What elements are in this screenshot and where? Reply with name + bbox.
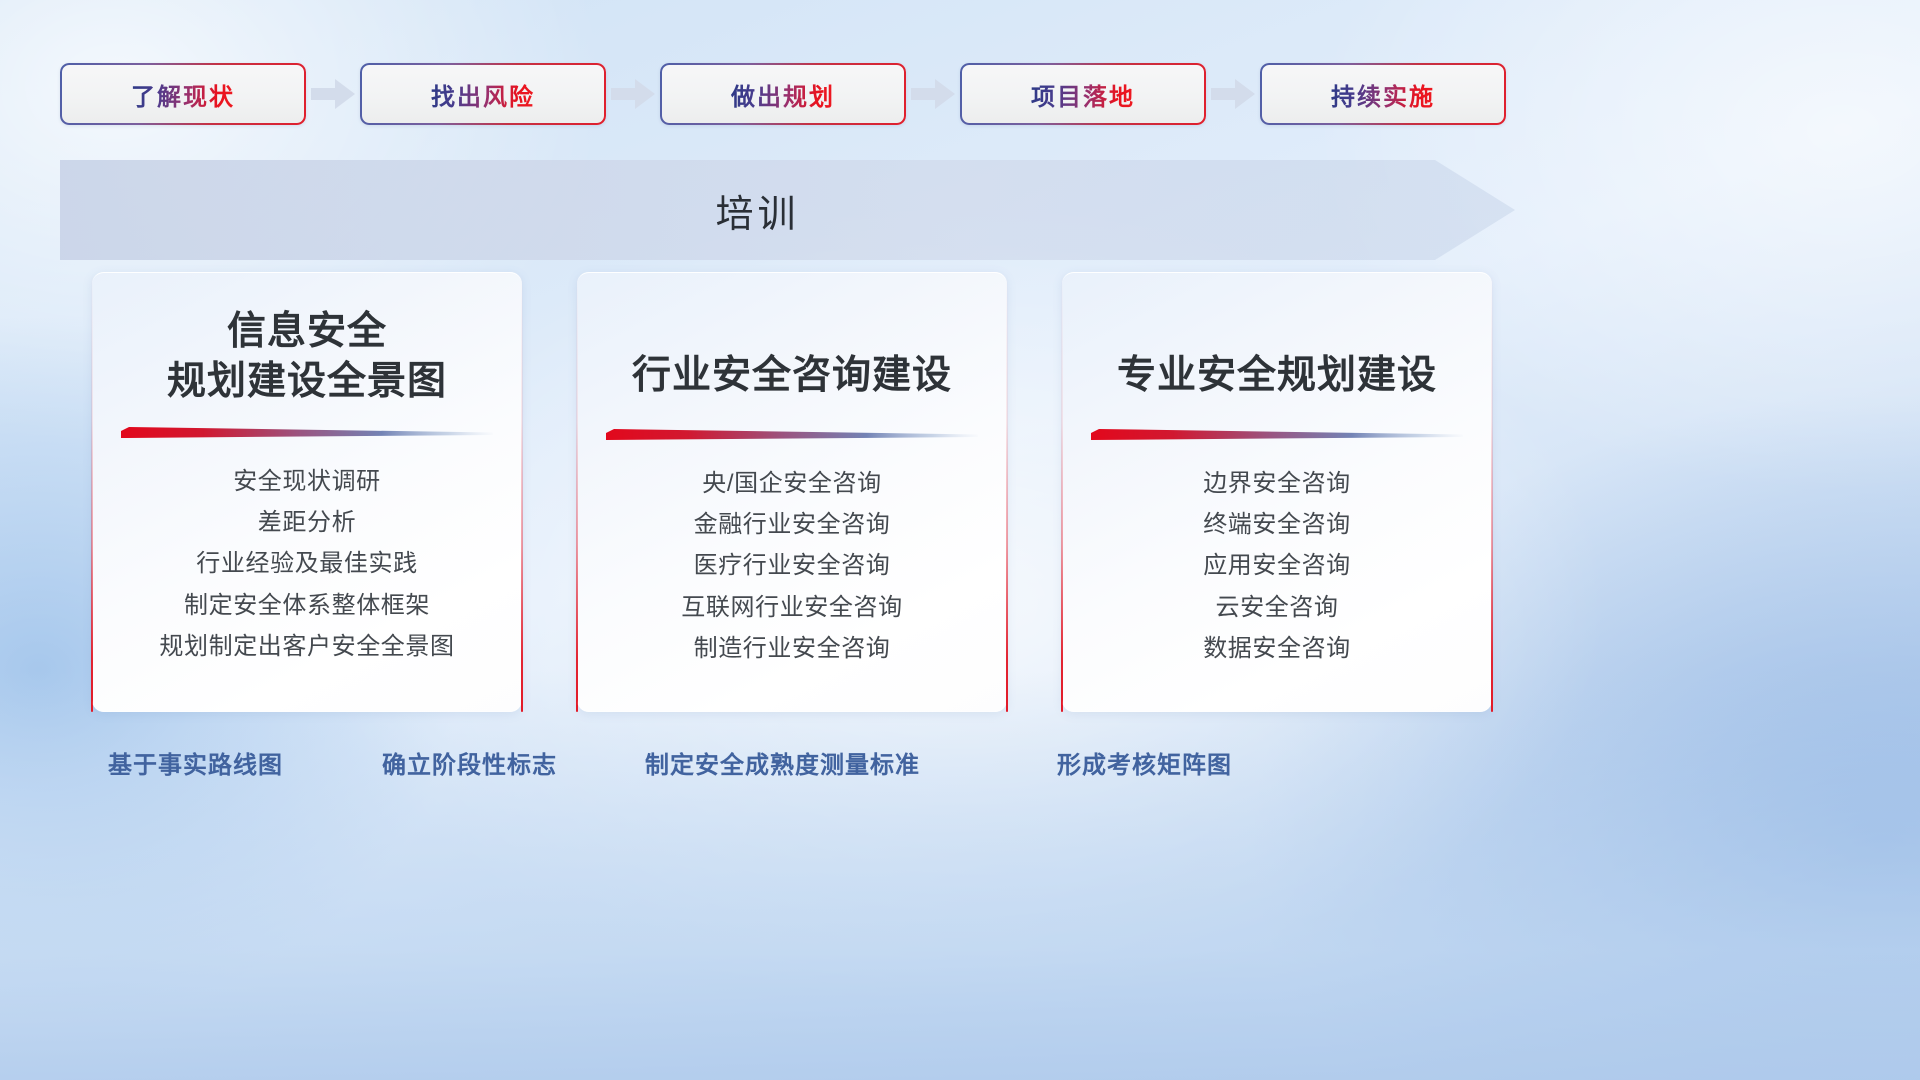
step-arrow-icon-4: [1206, 77, 1260, 111]
footer-label-4: 形成考核矩阵图: [1057, 745, 1232, 780]
card-1-title: 信息安全 规划建设全景图: [167, 307, 447, 407]
card-3-inner: 专业安全规划建设: [1062, 272, 1492, 712]
step-arrow-icon-2: [606, 77, 660, 111]
step-item-4[interactable]: 项目落地: [960, 63, 1206, 125]
list-item: 规划制定出客户安全全景图: [159, 626, 454, 667]
step-arrow-icon-3: [906, 77, 960, 111]
list-item: 互联网行业安全咨询: [681, 587, 902, 628]
step-label-3: 做出规划: [731, 77, 835, 112]
step-label-4: 项目落地: [1031, 77, 1135, 112]
step-label-5: 持续实施: [1331, 77, 1435, 112]
card-row: 信息安全 规划建设全景图: [92, 272, 1492, 712]
banner-label: 培训: [60, 160, 1515, 260]
list-item: 边界安全咨询: [1203, 463, 1351, 504]
list-item: 医疗行业安全咨询: [694, 545, 891, 586]
list-item: 央/国企安全咨询: [702, 463, 881, 504]
list-item: 安全现状调研: [233, 461, 381, 502]
list-item: 终端安全咨询: [1203, 504, 1351, 545]
card-2-inner: 行业安全咨询建设: [577, 272, 1007, 712]
card-1[interactable]: 信息安全 规划建设全景图: [92, 272, 522, 712]
card-3[interactable]: 专业安全规划建设: [1062, 272, 1492, 712]
card-2-divider: [606, 429, 978, 445]
list-item: 云安全咨询: [1216, 587, 1339, 628]
step-label-1: 了解现状: [131, 77, 235, 112]
card-2-title: 行业安全咨询建设: [632, 307, 952, 401]
step-arrow-icon-1: [306, 77, 360, 111]
list-item: 行业经验及最佳实践: [196, 543, 417, 584]
card-3-title-line1: 专业安全规划建设: [1117, 351, 1437, 401]
card-1-title-line2: 规划建设全景图: [167, 357, 447, 407]
card-3-list: 边界安全咨询 终端安全咨询 应用安全咨询 云安全咨询 数据安全咨询: [1062, 463, 1492, 669]
card-2[interactable]: 行业安全咨询建设: [577, 272, 1007, 712]
card-2-list: 央/国企安全咨询 金融行业安全咨询 医疗行业安全咨询 互联网行业安全咨询 制造行…: [577, 463, 1007, 669]
card-1-inner: 信息安全 规划建设全景图: [92, 272, 522, 712]
card-1-list: 安全现状调研 差距分析 行业经验及最佳实践 制定安全体系整体框架 规划制定出客户…: [92, 461, 522, 667]
list-item: 金融行业安全咨询: [694, 504, 891, 545]
footer-label-2: 确立阶段性标志: [382, 745, 557, 780]
step-label-2: 找出风险: [431, 77, 535, 112]
card-1-divider: [121, 427, 493, 443]
card-2-title-line1: 行业安全咨询建设: [632, 351, 952, 401]
list-item: 数据安全咨询: [1203, 628, 1351, 669]
card-1-title-line1: 信息安全: [167, 307, 447, 357]
training-banner: 培训: [60, 160, 1515, 260]
card-3-title: 专业安全规划建设: [1117, 307, 1437, 401]
step-item-3[interactable]: 做出规划: [660, 63, 906, 125]
step-item-5[interactable]: 持续实施: [1260, 63, 1506, 125]
footer-label-row: 基于事实路线图 确立阶段性标志 制定安全成熟度测量标准 形成考核矩阵图: [0, 745, 1920, 795]
list-item: 制造行业安全咨询: [694, 628, 891, 669]
list-item: 差距分析: [258, 502, 356, 543]
card-3-divider: [1091, 429, 1463, 445]
footer-label-3: 制定安全成熟度测量标准: [645, 745, 920, 780]
step-item-1[interactable]: 了解现状: [60, 63, 306, 125]
list-item: 制定安全体系整体框架: [184, 585, 430, 626]
list-item: 应用安全咨询: [1203, 545, 1351, 586]
process-step-flow: 了解现状 找出风险 做出规划 项目落地 持续实施: [60, 62, 1510, 126]
step-item-2[interactable]: 找出风险: [360, 63, 606, 125]
footer-label-1: 基于事实路线图: [108, 745, 283, 780]
